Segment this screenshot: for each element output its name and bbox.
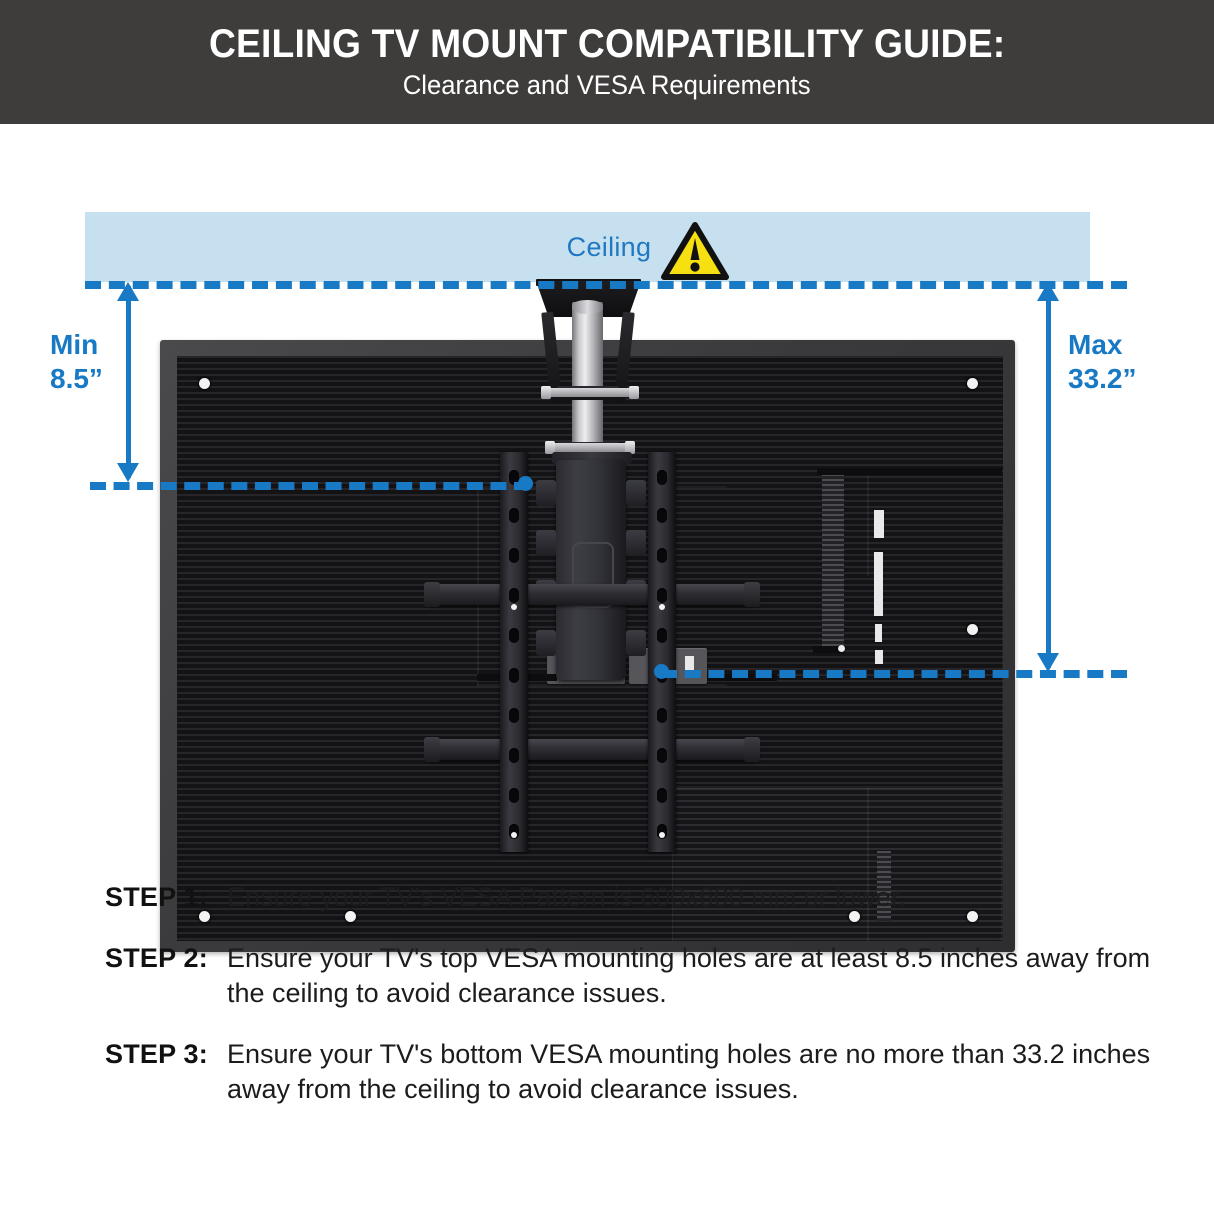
io-bar — [477, 674, 557, 681]
tv-rear-view — [160, 340, 1015, 952]
min-arrow-head-bottom — [117, 463, 139, 482]
port-bay-screw — [838, 645, 845, 652]
max-label-line1: Max — [1068, 328, 1137, 362]
pole-cap — [572, 300, 603, 314]
compatibility-guide-page: CEILING TV MOUNT COMPATIBILITY GUIDE: Cl… — [0, 0, 1214, 1214]
step-1-text: Ensure your TV’s VESA Pattern is 600x600… — [227, 880, 1187, 915]
ceiling-dashed-line — [85, 281, 1127, 289]
max-clearance-label: Max 33.2” — [1068, 328, 1137, 396]
ceiling-label: Ceiling — [539, 234, 679, 261]
vesa-screw-top-left — [199, 378, 210, 389]
min-arrow-head-top — [117, 282, 139, 301]
io-module — [547, 648, 625, 684]
min-clearance-dashed-line — [90, 482, 530, 490]
step-item-1: STEP 1: Ensure your TV’s VESA Pattern is… — [105, 880, 1187, 915]
instruction-steps: STEP 1: Ensure your TV’s VESA Pattern is… — [0, 880, 1214, 1107]
port-connector — [874, 510, 884, 538]
page-header: CEILING TV MOUNT COMPATIBILITY GUIDE: Cl… — [0, 0, 1214, 124]
step-3-text: Ensure your TV's bottom VESA mounting ho… — [227, 1037, 1187, 1107]
max-reference-dot — [654, 664, 669, 679]
vesa-screw-top-right — [967, 378, 978, 389]
port-connector — [875, 650, 883, 664]
vesa-screw-mid-right — [967, 624, 978, 635]
min-clearance-label: Min 8.5” — [50, 328, 103, 396]
min-label-line1: Min — [50, 328, 103, 362]
min-dimension-line — [126, 286, 131, 478]
min-reference-dot — [518, 476, 533, 491]
diagram-area: Ceiling — [0, 124, 1214, 864]
step-item-3: STEP 3: Ensure your TV's bottom VESA mou… — [105, 1037, 1187, 1107]
min-label-line2: 8.5” — [50, 362, 103, 396]
warning-triangle-icon — [661, 222, 729, 280]
step-1-label: STEP 1: — [105, 880, 208, 915]
port-connector — [875, 624, 882, 642]
port-connector — [874, 552, 883, 616]
max-dimension-line — [1046, 286, 1051, 668]
page-subtitle: Clearance and VESA Requirements — [403, 71, 811, 101]
tv-rear-panel — [177, 356, 1003, 941]
page-title: CEILING TV MOUNT COMPATIBILITY GUIDE: — [209, 23, 1005, 65]
step-2-label: STEP 2: — [105, 941, 208, 976]
max-arrow-head-top — [1037, 282, 1059, 301]
port-bay-vent — [822, 474, 844, 649]
panel-seam — [477, 684, 727, 686]
step-3-label: STEP 3: — [105, 1037, 208, 1072]
step-2-text: Ensure your TV's top VESA mounting holes… — [227, 941, 1187, 1011]
panel-seam — [477, 486, 479, 686]
max-label-line2: 33.2” — [1068, 362, 1137, 396]
panel-seam — [867, 476, 869, 576]
io-module — [629, 648, 707, 684]
panel-seam — [1002, 526, 1003, 941]
max-arrow-head-bottom — [1037, 653, 1059, 672]
step-item-2: STEP 2: Ensure your TV's top VESA mounti… — [105, 941, 1187, 1011]
panel-seam — [672, 786, 1002, 788]
port-bay-top-bar — [817, 468, 1002, 475]
